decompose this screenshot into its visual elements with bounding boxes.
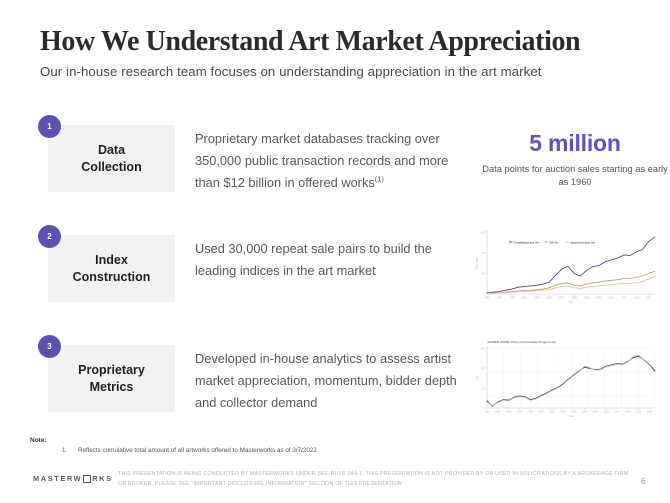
art-index-chart: 0336710019951997199920012003200520072009… — [465, 222, 665, 317]
legal-disclaimer: THIS PRESENTATION IS BEING CONDUCTED BY … — [118, 469, 638, 489]
svg-text:2019: 2019 — [634, 298, 640, 300]
svg-text:2006: 2006 — [571, 412, 577, 414]
stat-value: 5 million — [480, 130, 670, 157]
art-index-chart-svg: 0336710019951997199920012003200520072009… — [465, 222, 665, 317]
step-description-1: Proprietary market databases tracking ov… — [195, 128, 470, 194]
svg-text:Year: Year — [569, 415, 574, 418]
svg-text:JASPER JOHNS Price and Estimat: JASPER JOHNS Price and Estimate Progress… — [487, 340, 556, 344]
svg-text:2012: 2012 — [604, 412, 610, 414]
svg-text:2004: 2004 — [560, 412, 566, 414]
note-item-number: 1. — [62, 447, 67, 454]
step-description-2: Used 30,000 repeat sale pairs to build t… — [195, 238, 470, 282]
stat-block: 5 million Data points for auction sales … — [480, 130, 670, 190]
step-card-line2-1: Collection — [81, 160, 141, 174]
masterworks-logo: MASTERWRKS — [33, 474, 113, 483]
logo-suffix: RKS — [92, 474, 112, 483]
svg-text:All Art: All Art — [550, 241, 559, 245]
step-card-label-2: Index Construction — [73, 252, 151, 286]
svg-text:2014: 2014 — [615, 412, 621, 414]
slide: How We Understand Art Market Appreciatio… — [0, 0, 670, 503]
svg-text:Price: Price — [476, 375, 479, 381]
svg-text:0: 0 — [483, 407, 485, 410]
svg-text:33: 33 — [482, 387, 485, 390]
svg-text:Year: Year — [569, 301, 574, 304]
svg-text:2016: 2016 — [625, 412, 631, 414]
step-card-line1-2: Index — [95, 253, 128, 267]
svg-text:1995: 1995 — [484, 298, 490, 300]
svg-text:2010: 2010 — [593, 412, 599, 414]
svg-text:2018: 2018 — [636, 412, 642, 414]
svg-text:1994: 1994 — [506, 412, 512, 414]
page-subtitle: Our in-house research team focuses on un… — [40, 64, 542, 79]
svg-text:100: 100 — [480, 231, 485, 234]
svg-text:2008: 2008 — [582, 412, 588, 414]
step-card-line1-1: Data — [98, 143, 125, 157]
svg-text:67: 67 — [482, 367, 485, 370]
page-title: How We Understand Art Market Appreciatio… — [40, 26, 580, 58]
step-card-line1-3: Proprietary — [78, 363, 145, 377]
step-badge-1: 1 — [38, 115, 61, 138]
note-item-text: Reflects cumulative total amount of all … — [78, 447, 317, 454]
step-description-text-1: Proprietary market databases tracking ov… — [195, 131, 448, 190]
svg-text:2000: 2000 — [539, 412, 545, 414]
svg-text:Index Value: Index Value — [476, 256, 479, 269]
footnote-marker-1: (1) — [375, 175, 384, 184]
step-card-line2-2: Construction — [73, 270, 151, 284]
svg-text:1997: 1997 — [497, 298, 503, 300]
svg-text:2007: 2007 — [559, 298, 565, 300]
svg-text:1998: 1998 — [528, 412, 534, 414]
svg-text:2005: 2005 — [547, 298, 553, 300]
step-row-3: 3 Proprietary Metrics Developed in-house… — [0, 332, 670, 427]
svg-text:2020: 2020 — [647, 412, 653, 414]
step-card-line2-3: Metrics — [90, 380, 134, 394]
svg-text:100: 100 — [480, 347, 485, 350]
step-row-1: 1 Data Collection Proprietary market dat… — [0, 112, 670, 207]
page-number: 6 — [641, 477, 645, 486]
step-description-3: Developed in-house analytics to assess a… — [195, 348, 470, 414]
jasper-johns-chart-svg: 0336710019901992199419961998200020022004… — [465, 332, 665, 427]
jasper-johns-chart: 0336710019901992199419961998200020022004… — [465, 332, 665, 427]
svg-text:0: 0 — [483, 293, 485, 296]
svg-text:1992: 1992 — [495, 412, 501, 414]
svg-text:33: 33 — [482, 273, 485, 276]
svg-text:67: 67 — [482, 252, 485, 255]
logo-prefix: MASTERW — [33, 474, 82, 483]
svg-text:1996: 1996 — [517, 412, 523, 414]
svg-text:2003: 2003 — [534, 298, 540, 300]
step-card-label-1: Data Collection — [81, 142, 141, 176]
svg-text:1990: 1990 — [484, 412, 490, 414]
svg-text:2001: 2001 — [522, 298, 528, 300]
svg-text:2011: 2011 — [584, 298, 590, 300]
svg-text:2002: 2002 — [549, 412, 555, 414]
svg-text:2017: 2017 — [621, 298, 627, 300]
step-row-2: 2 Index Construction Used 30,000 repeat … — [0, 222, 670, 317]
svg-text:1999: 1999 — [509, 298, 515, 300]
step-card-1: Data Collection — [48, 125, 175, 192]
note-label: Note: — [30, 437, 47, 444]
svg-text:2015: 2015 — [609, 298, 615, 300]
step-description-text-2: Used 30,000 repeat sale pairs to build t… — [195, 241, 432, 278]
svg-text:2009: 2009 — [572, 298, 578, 300]
svg-text:Impressionist Art: Impressionist Art — [571, 241, 596, 245]
svg-text:2013: 2013 — [596, 298, 602, 300]
step-card-3: Proprietary Metrics — [48, 345, 175, 412]
logo-box-o-icon — [83, 475, 91, 483]
stat-caption: Data points for auction sales starting a… — [480, 163, 670, 190]
step-card-2: Index Construction — [48, 235, 175, 302]
step-badge-2: 2 — [38, 225, 61, 248]
svg-text:2021: 2021 — [646, 298, 652, 300]
step-card-label-3: Proprietary Metrics — [78, 362, 145, 396]
step-description-text-3: Developed in-house analytics to assess a… — [195, 351, 457, 410]
step-badge-3: 3 — [38, 335, 61, 358]
svg-text:Contemporary Art: Contemporary Art — [514, 241, 540, 245]
